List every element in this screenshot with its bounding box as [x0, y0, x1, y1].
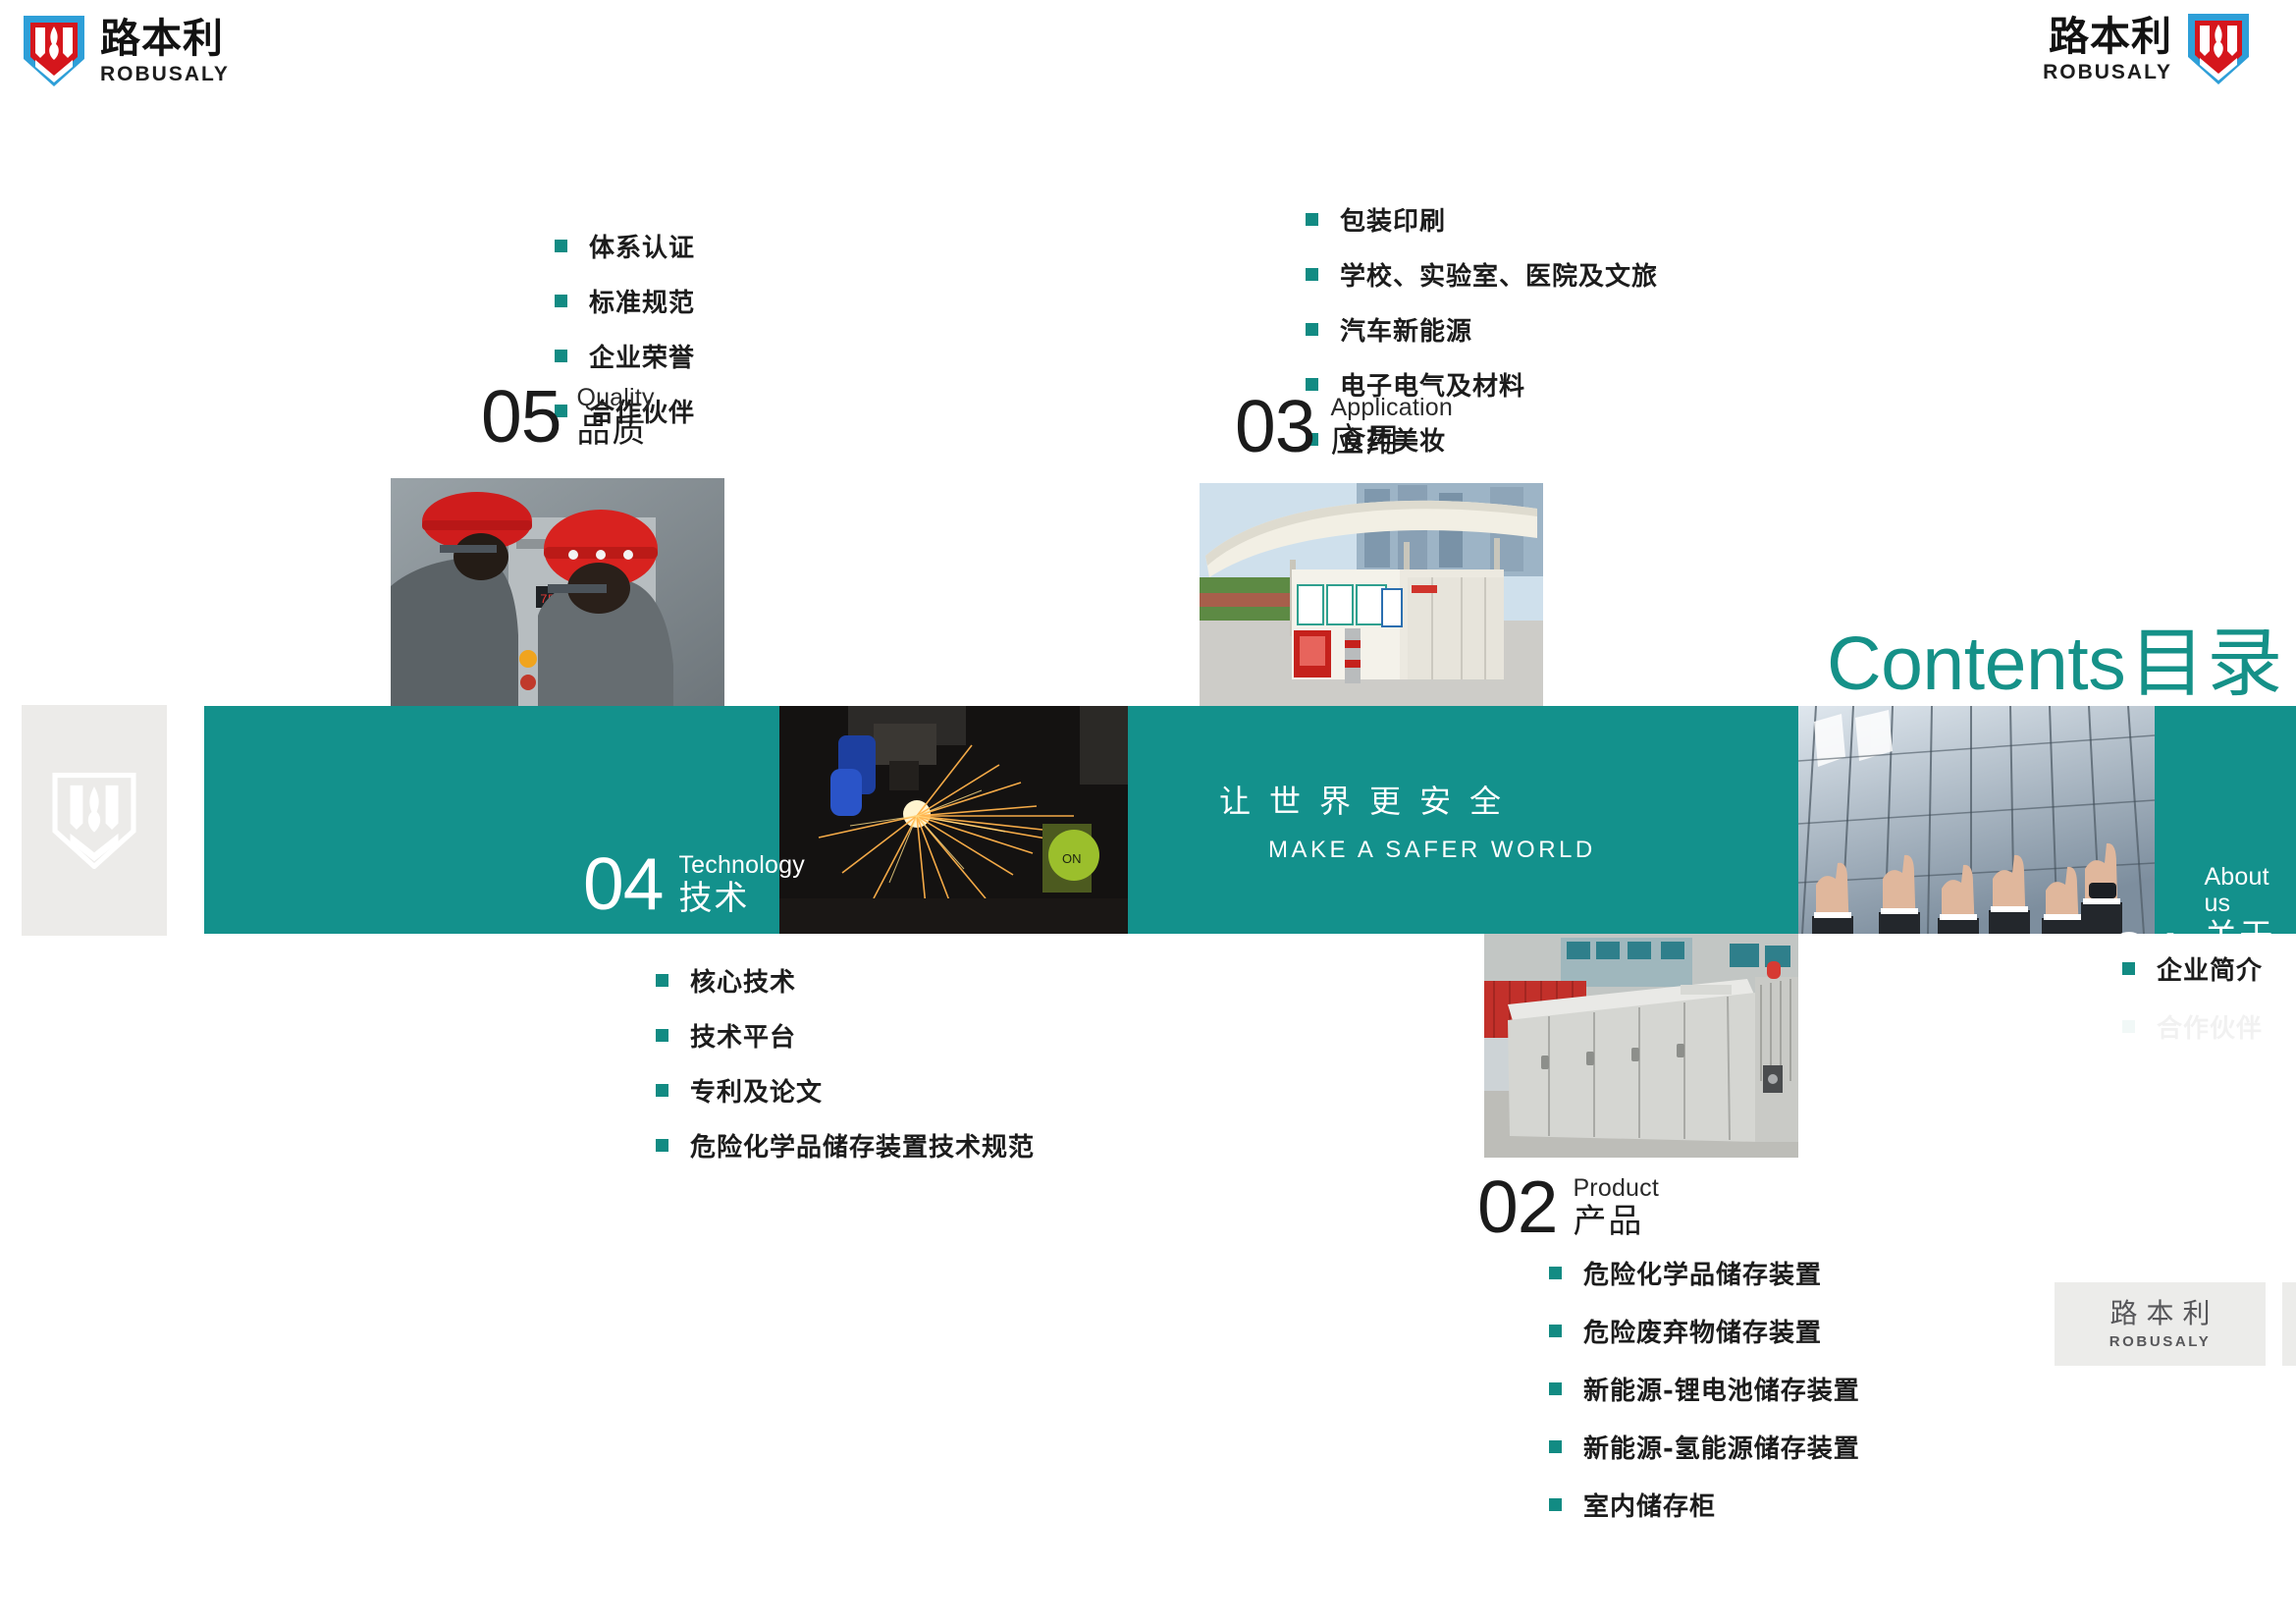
list-item-label: 学校、实验室、医院及文旅	[1340, 256, 1658, 293]
list-item[interactable]: 技术平台	[656, 1017, 1035, 1054]
list-item[interactable]: 学校、实验室、医院及文旅	[1306, 256, 1658, 293]
page-title-en: Contents	[1827, 626, 2125, 702]
brand-logo-left-text: 路本利 ROBUSALY	[100, 19, 230, 84]
watermark-name-en: ROBUSALY	[2109, 1334, 2212, 1349]
list-item[interactable]: 汽车新能源	[1306, 311, 1658, 348]
section-label-group: Technology 技术	[678, 852, 804, 919]
list-item[interactable]: 新能源-锂电池储存装置	[1549, 1371, 1860, 1407]
square-bullet-icon	[656, 1139, 668, 1152]
bottom-watermark-logo: 路本利 ROBUSALY	[2055, 1282, 2266, 1366]
section-label-group: Product 产品	[1573, 1175, 1659, 1242]
brand-name-en: ROBUSALY	[100, 64, 230, 84]
section-number: 05	[481, 383, 561, 452]
square-bullet-icon	[1306, 323, 1318, 336]
list-item-label: 新能源-氢能源储存装置	[1583, 1429, 1860, 1465]
square-bullet-icon	[656, 1029, 668, 1042]
brand-name-cn: 路本利	[100, 19, 230, 59]
section-label-group: Quality 品质	[576, 385, 654, 452]
list-item[interactable]: 专利及论文	[656, 1072, 1035, 1109]
section-label-en: Product	[1573, 1175, 1659, 1202]
list-item[interactable]: 标准规范	[555, 283, 695, 319]
list-item-label: 危险废弃物储存装置	[1583, 1313, 1822, 1349]
square-bullet-icon	[1549, 1267, 1562, 1279]
brand-name-cn: 路本利	[2049, 17, 2172, 57]
brand-logo-right[interactable]: 路本利 ROBUSALY	[2043, 12, 2251, 86]
square-bullet-icon	[2122, 1020, 2135, 1033]
photo-technology-machining: ON	[779, 706, 1128, 934]
page-title-cn: 目录	[2129, 626, 2284, 702]
section-label-cn: 应用	[1330, 423, 1453, 460]
list-item[interactable]: 核心技术	[656, 962, 1035, 999]
photo-quality-workers: 752	[391, 478, 724, 706]
brand-name-en: ROBUSALY	[2043, 62, 2172, 82]
shield-flame-icon	[2186, 12, 2251, 86]
watermark-name-cn: 路本利	[2101, 1300, 2218, 1327]
list-item[interactable]: 危险废弃物储存装置	[1549, 1313, 1860, 1349]
list-item-label: 室内储存柜	[1583, 1487, 1716, 1523]
section-label-cn: 品质	[576, 413, 654, 450]
list-item-label: 危险化学品储存装置	[1583, 1255, 1822, 1291]
section-label-cn: 技术	[678, 881, 804, 917]
section-number: 03	[1235, 393, 1314, 461]
list-item-label: 企业荣誉	[589, 338, 695, 374]
square-bullet-icon	[555, 350, 567, 362]
page-title: Contents 目录	[1827, 626, 2284, 702]
list-item-label: 包装印刷	[1340, 201, 1446, 238]
list-item[interactable]: 新能源-氢能源储存装置	[1549, 1429, 1860, 1465]
square-bullet-icon	[1549, 1325, 1562, 1337]
brand-logo-right-text: 路本利 ROBUSALY	[2043, 17, 2172, 82]
section-label-en: Application	[1330, 395, 1453, 421]
shield-flame-icon	[22, 14, 86, 88]
list-item[interactable]: 危险化学品储存装置	[1549, 1255, 1860, 1291]
list-item-label: 专利及论文	[690, 1072, 823, 1109]
section-heading-product[interactable]: 02 Product 产品	[1477, 1173, 1659, 1242]
list-item-label: 企业简介	[2157, 950, 2263, 987]
square-bullet-icon	[555, 240, 567, 252]
square-bullet-icon	[555, 295, 567, 307]
list-item[interactable]: 体系认证	[555, 228, 695, 264]
bullet-list-about-us: 企业简介 合作伙伴	[2122, 950, 2263, 1066]
bottom-watermark-edge	[2282, 1282, 2296, 1366]
square-bullet-icon	[1549, 1498, 1562, 1511]
list-item-label: 新能源-锂电池储存装置	[1583, 1371, 1860, 1407]
square-bullet-icon	[656, 1084, 668, 1097]
photo-application-station	[1200, 483, 1543, 706]
photo-product-storage-unit	[1484, 934, 1798, 1158]
bullet-list-product: 危险化学品储存装置 危险废弃物储存装置 新能源-锂电池储存装置 新能源-氢能源储…	[1549, 1255, 1860, 1544]
list-item-label: 技术平台	[690, 1017, 796, 1054]
square-bullet-icon	[1549, 1382, 1562, 1395]
brand-logo-left[interactable]: 路本利 ROBUSALY	[22, 14, 230, 88]
square-bullet-icon	[656, 974, 668, 987]
bullet-list-technology: 核心技术 技术平台 专利及论文 危险化学品储存装置技术规范	[656, 962, 1035, 1182]
square-bullet-icon	[2122, 962, 2135, 975]
section-heading-technology[interactable]: 04 Technology 技术	[583, 850, 805, 919]
list-item[interactable]: 室内储存柜	[1549, 1487, 1860, 1523]
slogan-block: 让世界更安全 MAKE A SAFER WORLD	[1219, 785, 1596, 864]
list-item[interactable]: 危险化学品储存装置技术规范	[656, 1127, 1035, 1164]
list-item[interactable]: 包装印刷	[1306, 201, 1658, 238]
section-number: 04	[583, 850, 663, 919]
slide-contents-page: 路本利 ROBUSALY 路本利 ROBUSALY	[0, 0, 2296, 1624]
section-label-en: About us	[2204, 864, 2296, 917]
slogan-en: MAKE A SAFER WORLD	[1268, 837, 1596, 864]
list-item-label: 汽车新能源	[1340, 311, 1472, 348]
slogan-cn: 让世界更安全	[1219, 785, 1596, 817]
shield-flame-watermark-icon	[52, 773, 136, 869]
list-item-label: 合作伙伴	[2157, 1008, 2263, 1045]
list-item[interactable]: 合作伙伴	[2122, 1008, 2263, 1045]
list-item[interactable]: 企业荣誉	[555, 338, 695, 374]
photo-about-us-thumbs-up	[1798, 706, 2155, 934]
list-item[interactable]: 企业简介	[2122, 950, 2263, 987]
left-watermark-plate	[22, 705, 167, 936]
section-label-en: Technology	[678, 852, 804, 879]
square-bullet-icon	[1306, 213, 1318, 226]
section-number: 02	[1477, 1173, 1557, 1242]
section-heading-quality[interactable]: 05 Quality 品质	[481, 383, 655, 452]
svg-text:ON: ON	[1062, 851, 1082, 866]
section-label-en: Quality	[576, 385, 654, 411]
section-label-cn: 产品	[1573, 1204, 1659, 1240]
list-item-label: 标准规范	[589, 283, 695, 319]
section-heading-application[interactable]: 03 Application 应用	[1235, 393, 1453, 461]
square-bullet-icon	[1306, 268, 1318, 281]
square-bullet-icon	[1549, 1440, 1562, 1453]
list-item-label: 体系认证	[589, 228, 695, 264]
section-label-group: Application 应用	[1330, 395, 1453, 461]
list-item-label: 危险化学品储存装置技术规范	[690, 1127, 1035, 1164]
list-item-label: 核心技术	[690, 962, 796, 999]
